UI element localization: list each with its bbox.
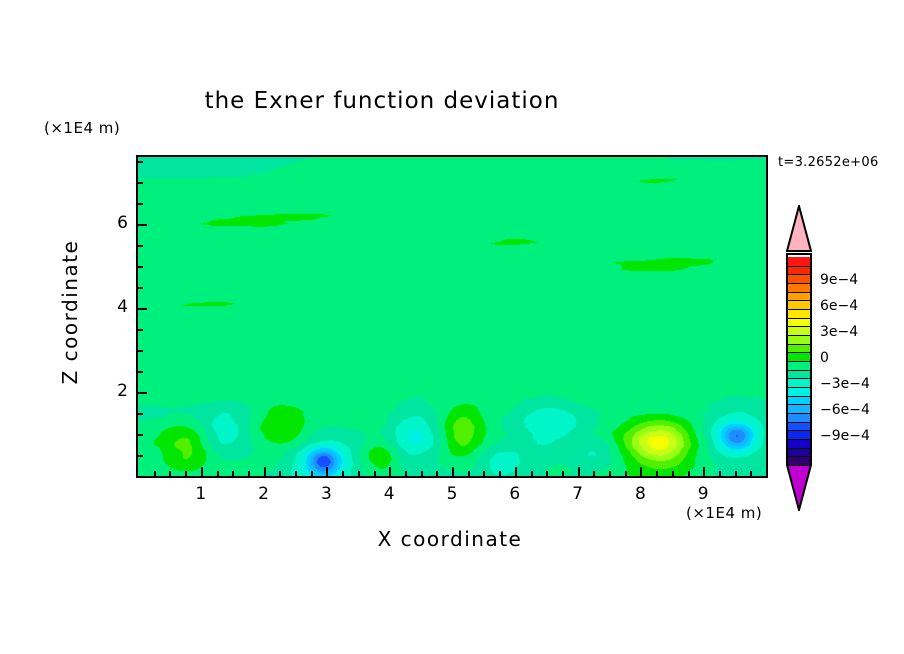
colorbar-tick-label: −3e−4 xyxy=(820,376,870,392)
timestamp-annotation: t=3.2652e+06 xyxy=(778,155,879,170)
x-tick-minor xyxy=(750,471,752,476)
x-tick-minor xyxy=(672,471,674,476)
colorbar-band-separator xyxy=(788,430,810,431)
colorbar-band-separator xyxy=(788,370,810,371)
contour-plot-area xyxy=(136,155,768,478)
y-tick-minor xyxy=(138,203,143,205)
colorbar-tick-label: 9e−4 xyxy=(820,272,858,288)
x-tick-minor xyxy=(468,471,470,476)
y-tick-minor xyxy=(138,413,143,415)
colorbar-band-separator xyxy=(788,292,810,293)
colorbar-tick-label: 0 xyxy=(820,350,829,366)
y-tick-minor xyxy=(138,455,143,457)
colorbar-band-separator xyxy=(788,378,810,379)
y-tick-minor xyxy=(138,161,143,163)
y-tick-minor xyxy=(138,245,143,247)
x-axis-title: X coordinate xyxy=(236,527,664,551)
x-tick-minor xyxy=(374,471,376,476)
x-tick-major xyxy=(640,467,642,476)
colorbar-band-separator xyxy=(788,335,810,336)
x-tick-minor xyxy=(154,471,156,476)
x-tick-minor xyxy=(342,471,344,476)
x-tick-minor xyxy=(562,471,564,476)
x-tick-label: 4 xyxy=(374,484,404,504)
colorbar-band-separator xyxy=(788,309,810,310)
x-tick-minor xyxy=(436,471,438,476)
x-tick-label: 8 xyxy=(625,484,655,504)
colorbar-band-separator xyxy=(788,413,810,414)
x-tick-major xyxy=(389,467,391,476)
x-tick-major xyxy=(452,467,454,476)
x-axis-unit-label: (×1E4 m) xyxy=(686,504,762,522)
x-tick-major xyxy=(515,467,517,476)
colorbar-tick-label: 6e−4 xyxy=(820,298,858,314)
x-tick-minor xyxy=(483,471,485,476)
x-tick-minor xyxy=(499,471,501,476)
x-tick-minor xyxy=(719,471,721,476)
x-tick-major xyxy=(326,467,328,476)
x-tick-major xyxy=(264,467,266,476)
colorbar-band-separator xyxy=(788,326,810,327)
y-tick-minor xyxy=(138,266,143,268)
colorbar-tick-label: −9e−4 xyxy=(820,428,870,444)
colorbar-over-arrow-icon xyxy=(786,205,812,253)
y-tick-label: 4 xyxy=(102,297,128,317)
x-tick-label: 3 xyxy=(311,484,341,504)
x-tick-minor xyxy=(248,471,250,476)
y-tick-minor xyxy=(138,287,143,289)
x-tick-minor xyxy=(531,471,533,476)
x-tick-minor xyxy=(358,471,360,476)
x-tick-label: 9 xyxy=(688,484,718,504)
x-tick-major xyxy=(703,467,705,476)
x-tick-label: 7 xyxy=(563,484,593,504)
y-tick-minor xyxy=(138,371,143,373)
x-tick-minor xyxy=(232,471,234,476)
colorbar-band-separator xyxy=(788,318,810,319)
x-tick-label: 1 xyxy=(186,484,216,504)
colorbar-tick-label: −6e−4 xyxy=(820,402,870,418)
colorbar-band-separator xyxy=(788,266,810,267)
colorbar-band-separator xyxy=(788,439,810,440)
colorbar-band-separator xyxy=(788,456,810,457)
y-tick-major xyxy=(138,392,147,394)
colorbar-band-separator xyxy=(788,344,810,345)
page-title: the Exner function deviation xyxy=(0,88,764,114)
y-tick-major xyxy=(138,224,147,226)
y-tick-label: 2 xyxy=(102,381,128,401)
x-tick-minor xyxy=(546,471,548,476)
colorbar-bands xyxy=(786,253,812,465)
colorbar-band-separator xyxy=(788,274,810,275)
x-tick-major xyxy=(578,467,580,476)
x-tick-minor xyxy=(656,471,658,476)
x-tick-minor xyxy=(735,471,737,476)
x-tick-minor xyxy=(421,471,423,476)
colorbar-band-separator xyxy=(788,422,810,423)
x-tick-label: 6 xyxy=(500,484,530,504)
x-tick-minor xyxy=(593,471,595,476)
y-tick-minor xyxy=(138,329,143,331)
x-tick-minor xyxy=(311,471,313,476)
colorbar-band-separator xyxy=(788,396,810,397)
colorbar-band-separator xyxy=(788,352,810,353)
colorbar-band-separator xyxy=(788,404,810,405)
colorbar-band-separator xyxy=(788,361,810,362)
x-tick-minor xyxy=(169,471,171,476)
x-tick-minor xyxy=(609,471,611,476)
y-axis-unit-label: (×1E4 m) xyxy=(44,119,120,137)
x-tick-minor xyxy=(405,471,407,476)
x-tick-label: 2 xyxy=(249,484,279,504)
contour-field-canvas xyxy=(138,157,766,476)
colorbar: 9e−46e−43e−40−3e−4−6e−4−9e−4 xyxy=(778,205,898,505)
colorbar-under-arrow-icon xyxy=(786,465,812,511)
x-tick-minor xyxy=(295,471,297,476)
colorbar-band-separator xyxy=(788,448,810,449)
y-tick-minor xyxy=(138,350,143,352)
x-tick-major xyxy=(201,467,203,476)
y-tick-label: 6 xyxy=(102,213,128,233)
y-axis-title: Z coordinate xyxy=(58,212,82,412)
colorbar-band-separator xyxy=(788,300,810,301)
x-tick-minor xyxy=(688,471,690,476)
y-tick-major xyxy=(138,308,147,310)
y-tick-minor xyxy=(138,434,143,436)
x-tick-minor xyxy=(217,471,219,476)
colorbar-band-separator xyxy=(788,283,810,284)
colorbar-tick-label: 3e−4 xyxy=(820,324,858,340)
colorbar-band-separator xyxy=(788,387,810,388)
x-tick-minor xyxy=(279,471,281,476)
y-tick-minor xyxy=(138,182,143,184)
x-tick-minor xyxy=(625,471,627,476)
x-tick-label: 5 xyxy=(437,484,467,504)
x-tick-minor xyxy=(185,471,187,476)
